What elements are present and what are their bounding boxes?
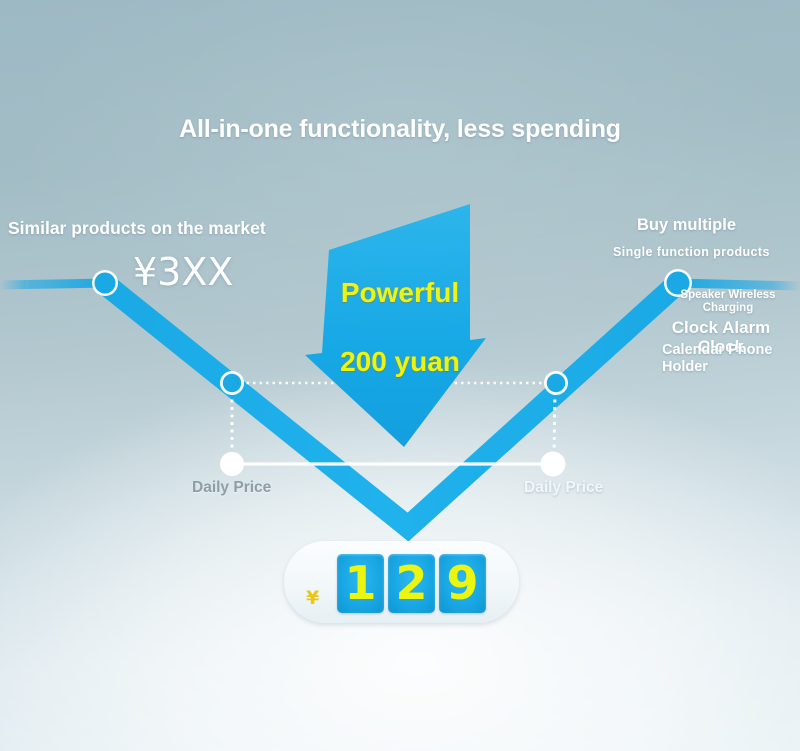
down-arrow-icon <box>305 204 486 447</box>
right-product-item: Speaker Wireless Charging <box>666 289 790 315</box>
left-price-value: ¥3XX <box>133 250 233 294</box>
currency-symbol: ¥ <box>306 587 319 609</box>
arrow-headline-text: Powerful <box>300 277 500 309</box>
price-pill: ¥ 1 2 9 <box>284 541 519 623</box>
node-left-baseline <box>220 452 244 476</box>
right-category-title: Buy multiple <box>637 216 736 235</box>
daily-price-label-left: Daily Price <box>192 479 271 497</box>
price-digit-tile: 9 <box>439 554 486 613</box>
price-digit-tile: 2 <box>388 554 435 613</box>
right-product-item: Calendar Phone Holder <box>662 342 790 376</box>
price-digit-tile: 1 <box>337 554 384 613</box>
page-title: All-in-one functionality, less spending <box>0 115 800 144</box>
node-right-mid <box>544 371 568 395</box>
trend-line-right-tail <box>676 283 800 286</box>
daily-price-label-right: Daily Price <box>524 479 603 497</box>
node-left-mid <box>220 371 244 395</box>
trend-line-left-tail <box>0 283 108 285</box>
infographic-canvas: All-in-one functionality, less spending … <box>0 0 800 751</box>
right-category-subtitle: Single function products <box>613 245 770 259</box>
node-right-baseline <box>541 452 566 477</box>
node-left-endpoint <box>92 270 118 296</box>
left-category-label: Similar products on the market <box>8 218 266 239</box>
arrow-amount-text: 200 yuan <box>296 346 504 378</box>
dotted-drop-right <box>554 392 555 457</box>
